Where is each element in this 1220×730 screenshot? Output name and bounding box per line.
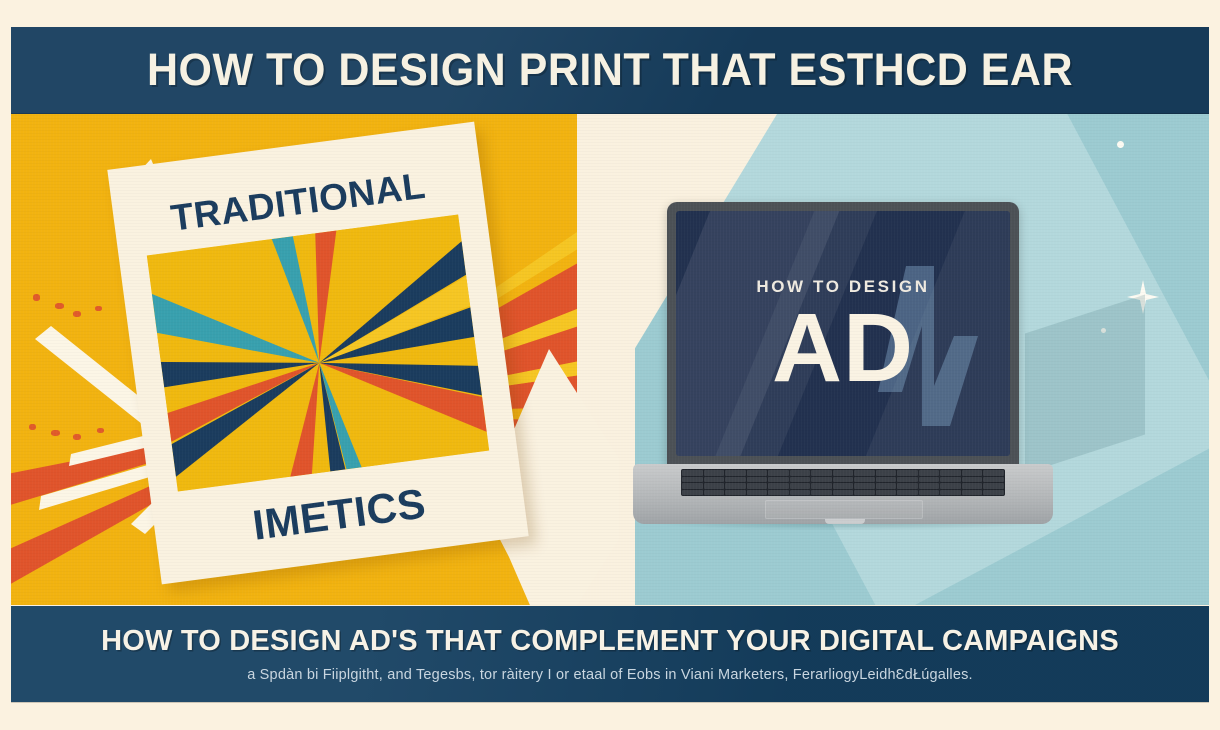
artwork-band: TRADITIONAL xyxy=(11,114,1209,605)
left-print-panel: TRADITIONAL xyxy=(11,114,633,605)
hairline-bottom xyxy=(11,702,1209,703)
header-title-bar: HOW TO DESIGN PRINT THAT ESTHCD EAR xyxy=(11,27,1209,114)
keyboard-row xyxy=(682,490,1004,496)
laptop-lid: HOW TO DESIGN AD xyxy=(667,202,1019,472)
page-title: HOW TO DESIGN PRINT THAT ESTHCD EAR xyxy=(147,45,1073,97)
dot-sparkle-small xyxy=(1117,141,1124,148)
laptop-device[interactable]: HOW TO DESIGN AD xyxy=(633,202,1053,532)
laptop-screen[interactable]: HOW TO DESIGN AD xyxy=(676,211,1010,456)
laptop-base xyxy=(633,464,1053,524)
hairline-top xyxy=(11,113,1209,114)
keyboard-row xyxy=(682,483,1004,489)
laptop-lid-notch xyxy=(825,519,865,524)
screen-headline-text: AD xyxy=(676,299,1010,396)
caption-bar: HOW TO DESIGN AD'S THAT COMPLEMENT YOUR … xyxy=(11,606,1209,702)
keyboard-row xyxy=(682,477,1004,483)
caption-subtext: a Spdàn bi Fiiplgitht, and Tegesbs, tor … xyxy=(247,667,973,683)
keyboard-row xyxy=(682,470,1004,476)
laptop-trackpad[interactable] xyxy=(765,500,923,519)
traditional-print-poster[interactable]: TRADITIONAL xyxy=(107,122,528,585)
radial-burst-svg xyxy=(147,215,489,492)
laptop-keyboard[interactable] xyxy=(681,469,1005,496)
poster-canvas: HOW TO DESIGN PRINT THAT ESTHCD EAR xyxy=(0,0,1220,730)
caption-headline: HOW TO DESIGN AD'S THAT COMPLEMENT YOUR … xyxy=(101,625,1119,658)
poster-radial-burst xyxy=(147,215,489,492)
